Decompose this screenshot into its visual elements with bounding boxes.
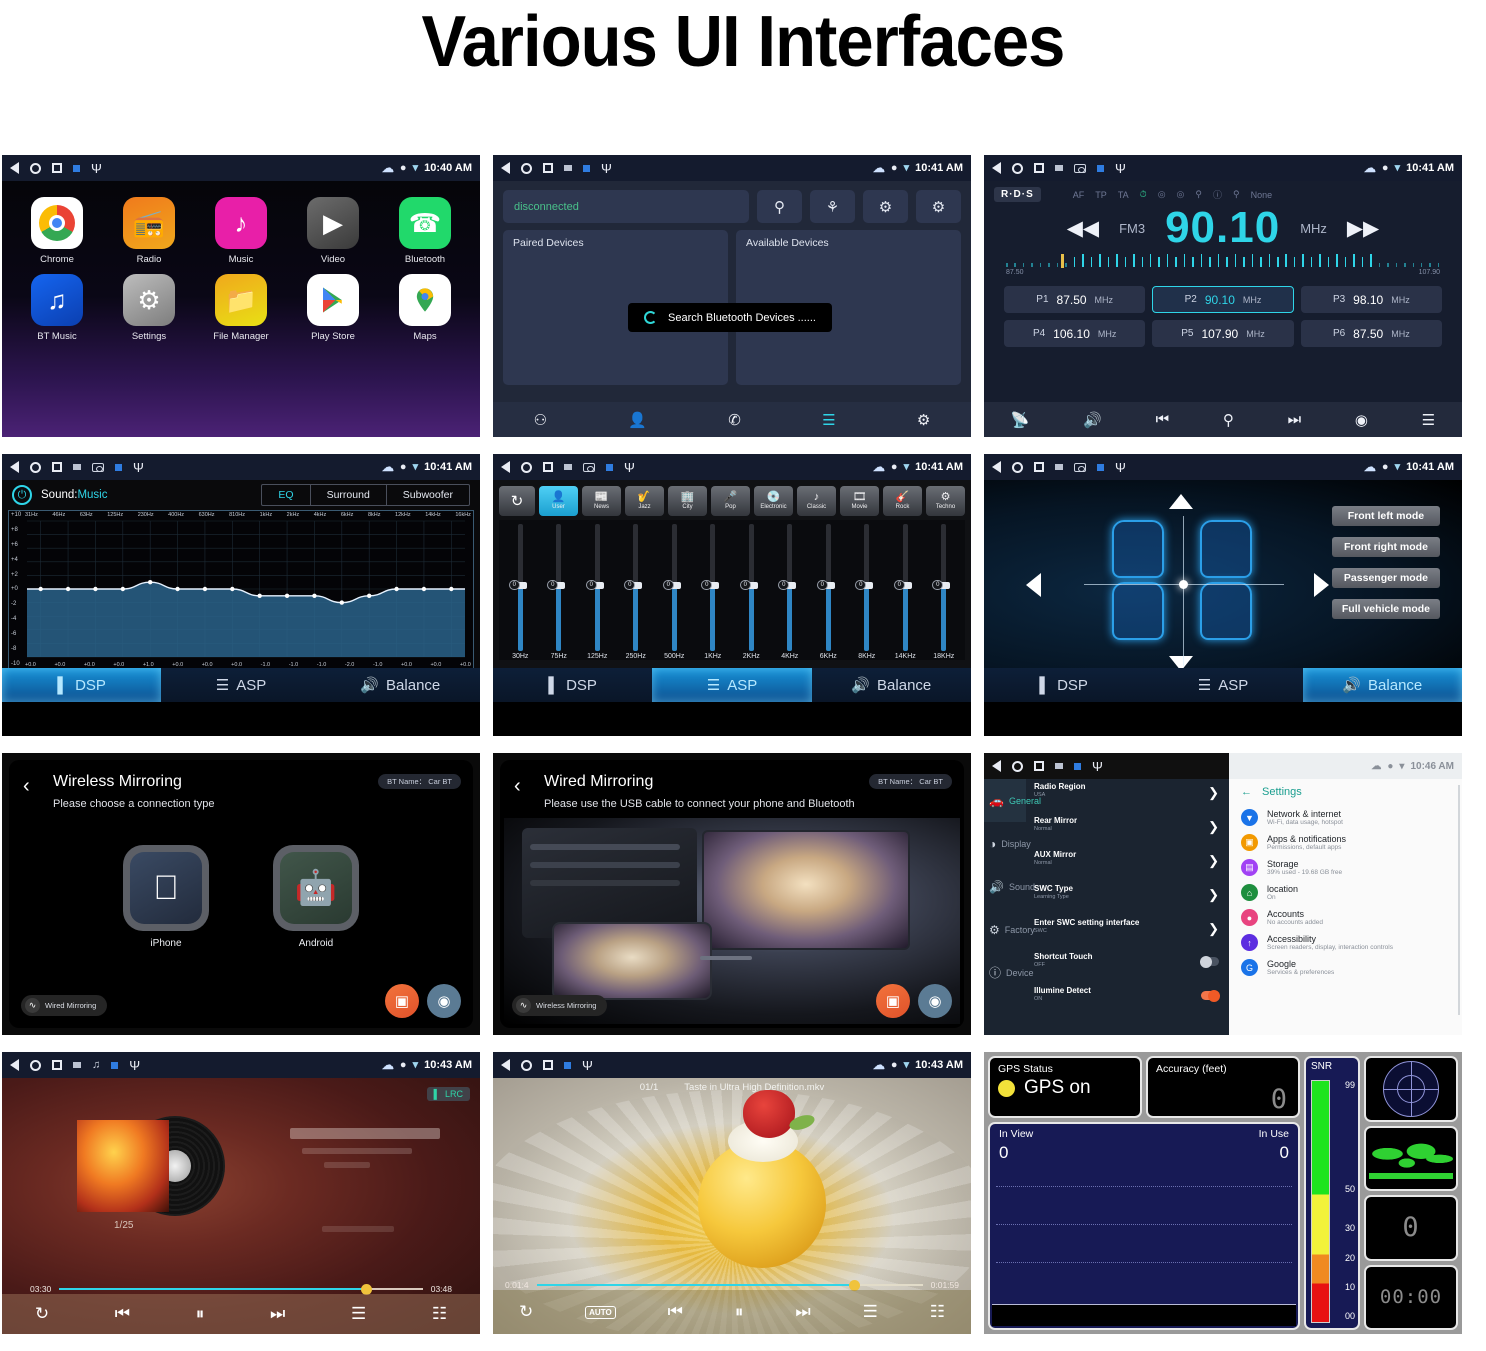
preset-jazz[interactable]: 🎷Jazz xyxy=(625,486,664,516)
eq-curve-chart[interactable]: +10+8+6+4+2+0-2-4-6-8-10 31Hz46Hz63Hz125… xyxy=(8,510,474,670)
unpair-icon[interactable]: ⚙ xyxy=(863,190,908,223)
previous-icon[interactable]: ⏮ xyxy=(668,1302,683,1322)
preset-rock[interactable]: 🎸Rock xyxy=(883,486,922,516)
nav-balance[interactable]: 🔊Balance xyxy=(812,668,971,702)
cast-icon[interactable]: ▣ xyxy=(385,984,419,1018)
search-icon[interactable]: ⚲ xyxy=(1195,189,1202,200)
antenna-icon[interactable]: 📡 xyxy=(1011,411,1030,429)
playlist-icon[interactable]: ☰ xyxy=(863,1302,878,1322)
status-bar-left: Ψ xyxy=(992,461,1126,474)
slider-value: 0 xyxy=(624,580,635,590)
home-icon[interactable] xyxy=(521,163,532,174)
back-icon[interactable] xyxy=(10,162,19,174)
radio-body: R·D·S AF TP TA ⏱ ◎ ◎ ⚲ ⓘ ⚲ None xyxy=(984,181,1462,437)
settings-item-title: Apps & notifications xyxy=(1267,834,1346,844)
scrollbar[interactable] xyxy=(1458,785,1460,1015)
home-icon[interactable] xyxy=(30,462,41,473)
slider-track[interactable]: 0 xyxy=(710,524,715,651)
back-icon[interactable] xyxy=(992,162,1001,174)
eq-slider[interactable]: 0 8KHz xyxy=(853,524,881,660)
preset-news[interactable]: 📰News xyxy=(582,486,621,516)
seek-bar[interactable] xyxy=(59,1288,422,1291)
seat-rear-left[interactable] xyxy=(1112,582,1164,640)
android-settings-item[interactable]: ▼ Network & internet Wi-Fi, data usage, … xyxy=(1229,805,1462,830)
home-icon[interactable] xyxy=(521,462,532,473)
eq-slider[interactable]: 0 4KHz xyxy=(776,524,804,660)
divider xyxy=(996,1224,1292,1225)
sidebar-item-sound[interactable]: 🔊Sound xyxy=(984,865,1026,908)
recents-icon[interactable] xyxy=(52,163,62,173)
panel-balance[interactable]: Ψ ☁ ● ▾ 10:41 AM xyxy=(984,454,1462,736)
preset-movie[interactable]: 🎞Movie xyxy=(840,486,879,516)
flag-tp[interactable]: TP xyxy=(1095,190,1107,200)
scale-tick xyxy=(1040,263,1042,267)
info-icon[interactable]: ⓘ xyxy=(1213,188,1222,201)
app-play-store[interactable]: Play Store xyxy=(296,274,370,342)
preset-label: User xyxy=(552,504,565,510)
pty-label[interactable]: None xyxy=(1251,190,1273,200)
scale-tick xyxy=(1167,254,1169,267)
seat-front-left[interactable] xyxy=(1112,520,1164,578)
app-video[interactable]: ▶ Video xyxy=(296,197,370,265)
preset-label: Classic xyxy=(807,504,826,510)
seat-diagram[interactable] xyxy=(1104,506,1264,646)
home-icon[interactable] xyxy=(1012,163,1023,174)
seat-front-right[interactable] xyxy=(1200,520,1252,578)
mode-front-right[interactable]: Front right mode xyxy=(1332,537,1440,557)
settings-row[interactable]: Shortcut Touch OFF xyxy=(1026,949,1229,983)
eq-slider[interactable]: 0 30Hz xyxy=(506,524,534,660)
app-music[interactable]: ♪ Music xyxy=(204,197,278,265)
cast-icon[interactable]: ▣ xyxy=(876,984,910,1018)
recents-icon[interactable] xyxy=(1034,462,1044,472)
chevron-right-icon[interactable]: ❯ xyxy=(1208,854,1219,867)
settings-row[interactable]: Rear Mirror Normal ❯ xyxy=(1026,813,1229,847)
settings-row[interactable]: SWC Type Learning Type ❯ xyxy=(1026,881,1229,915)
home-icon[interactable] xyxy=(521,1060,532,1071)
gps-status-value: GPS on xyxy=(1024,1077,1091,1099)
pause-icon[interactable]: ⏸ xyxy=(196,1304,205,1324)
slider-track[interactable]: 0 xyxy=(864,524,869,651)
clock-label: 10:41 AM xyxy=(915,461,963,473)
usb-icon: Ψ xyxy=(1115,162,1126,175)
contacts-icon[interactable]: 👤 xyxy=(628,411,647,429)
home-icon[interactable] xyxy=(1012,462,1023,473)
recents-icon[interactable] xyxy=(1034,163,1044,173)
recents-icon[interactable] xyxy=(543,462,553,472)
back-icon[interactable] xyxy=(992,461,1001,473)
chevron-right-icon[interactable]: ❯ xyxy=(1208,922,1219,935)
wifi-icon: ▾ xyxy=(1399,761,1404,772)
slider-frequency-label: 500Hz xyxy=(664,653,684,660)
panel-dsp-eq[interactable]: Ψ ☁ ● ▾ 10:41 AM ⏻ Sound:Music EQ Surrou… xyxy=(2,454,480,736)
android-settings-item[interactable]: ↑ Accessibility Screen readers, display,… xyxy=(1229,930,1462,955)
nav-asp[interactable]: ☰ASP xyxy=(652,668,811,702)
preset-label: News xyxy=(594,504,609,510)
choice-label: Android xyxy=(272,938,360,949)
next-icon[interactable]: ⏭ xyxy=(1288,411,1302,428)
settings-item-text: Accounts No accounts added xyxy=(1267,909,1323,926)
radio-nav: 📡 🔊 ⏮ ⚲ ⏭ ◉ ☰ xyxy=(984,402,1462,437)
location-icon: ● xyxy=(891,163,898,174)
settings-hex-icon[interactable]: ◉ xyxy=(918,984,952,1018)
nav-dsp[interactable]: ▌DSP xyxy=(493,668,652,702)
home-icon[interactable] xyxy=(30,163,41,174)
panel-radio[interactable]: Ψ ☁ ● ▾ 10:41 AM R·D·S AF TP TA ⏱ xyxy=(984,155,1462,437)
image-icon xyxy=(73,464,81,470)
app-settings[interactable]: ⚙ Settings xyxy=(112,274,186,342)
settings-row[interactable]: Radio Region USA ❯ xyxy=(1026,779,1229,813)
repeat-icon[interactable]: ↻ xyxy=(519,1302,533,1322)
slider-track[interactable]: 0 xyxy=(633,524,638,651)
settings-hex-icon[interactable]: ◉ xyxy=(427,984,461,1018)
nav-balance[interactable]: 🔊Balance xyxy=(321,668,480,702)
lrc-toggle[interactable]: ▌ LRC xyxy=(427,1087,470,1101)
eq-slider[interactable]: 0 6KHz xyxy=(814,524,842,660)
eq-slider[interactable]: 0 14KHz xyxy=(891,524,919,660)
preset-techno[interactable]: ⚙Techno xyxy=(926,486,965,516)
settings-item-icon: ▣ xyxy=(1241,834,1258,851)
gear-icon[interactable]: ⚙ xyxy=(917,411,930,429)
slider-frequency-label: 6KHz xyxy=(820,653,837,660)
nav-label: Balance xyxy=(1368,677,1422,694)
preset-unit: MHz xyxy=(1391,295,1410,305)
switch-to-wireless-button[interactable]: ∿ Wireless Mirroring xyxy=(512,995,607,1016)
auto-button[interactable]: AUTO xyxy=(585,1306,616,1319)
scale-tick xyxy=(1277,257,1279,267)
settings-row[interactable]: AUX Mirror Normal ❯ xyxy=(1026,847,1229,881)
balance-right-arrow[interactable] xyxy=(1314,573,1329,597)
phone-frame:  xyxy=(123,845,209,931)
preset-button[interactable]: P187.50MHz xyxy=(1004,286,1145,313)
phone-screen xyxy=(552,922,712,1000)
rds-flags: AF TP TA ⏱ ◎ ◎ ⚲ ⓘ ⚲ None xyxy=(1073,188,1272,201)
sky-view-widget[interactable] xyxy=(1364,1056,1458,1122)
bt-name-badge: BT Name： Car BT xyxy=(869,774,952,789)
status-bar-right: ☁ ● ▾ 10:41 AM xyxy=(873,461,963,473)
slider-value: 0 xyxy=(817,580,828,590)
sidebar-item-general[interactable]: 🚗General xyxy=(984,779,1026,822)
recents-icon[interactable] xyxy=(543,163,553,173)
balance-left-arrow[interactable] xyxy=(1026,573,1041,597)
nav-dsp[interactable]: ▌DSP xyxy=(984,668,1143,702)
scale-tick xyxy=(1252,254,1254,267)
settings-item-text: Network & internet Wi-Fi, data usage, ho… xyxy=(1267,809,1343,826)
tab-surround[interactable]: Surround xyxy=(311,485,387,505)
sidebar-item-factory[interactable]: ⚙Factory xyxy=(984,908,1026,951)
nav-dsp[interactable]: ▌DSP xyxy=(2,668,161,702)
bluetooth-icon: ☁ xyxy=(873,461,885,473)
slider-track[interactable]: 0 xyxy=(787,524,792,651)
techno-icon: ⚙ xyxy=(941,492,951,503)
panel-wired-mirroring[interactable]: ‹ Wired Mirroring Please use the USB cab… xyxy=(493,753,971,1035)
chevron-right-icon[interactable]: ❯ xyxy=(1208,786,1219,799)
preset-button[interactable]: P687.50MHz xyxy=(1301,320,1442,347)
clock-value: 00:00 xyxy=(1380,1288,1442,1307)
bt-devices-icon[interactable]: ☰ xyxy=(822,411,835,429)
mode-front-left[interactable]: Front left mode xyxy=(1332,506,1440,526)
android-settings-item[interactable]: ⌂ location On xyxy=(1229,880,1462,905)
app-bt-music[interactable]: ♫ BT Music xyxy=(20,274,94,342)
switch-to-wired-button[interactable]: ∿ Wired Mirroring xyxy=(21,995,107,1016)
radio-tuner: ◀◀ FM3 90.10 MHz ▶▶ xyxy=(994,206,1452,250)
volume-icon[interactable]: 🔊 xyxy=(1083,411,1102,429)
search-icon[interactable]: ⚲ xyxy=(757,190,802,223)
world-map-widget[interactable] xyxy=(1364,1126,1458,1192)
preset-electronic[interactable]: 💿Electronic xyxy=(754,486,793,516)
in-view-label: In View xyxy=(999,1128,1033,1140)
broadcast-icon[interactable]: ◉ xyxy=(1355,411,1368,429)
slider-track[interactable]: 0 xyxy=(556,524,561,651)
bluetooth-icon: ☁ xyxy=(1364,461,1376,473)
rds-badge[interactable]: R·D·S xyxy=(994,187,1041,202)
music-note-icon: ♪ xyxy=(215,197,267,249)
delete-icon[interactable]: ⚙ xyxy=(916,190,961,223)
eq-slider[interactable]: 0 18KHz xyxy=(930,524,958,660)
recents-icon[interactable] xyxy=(52,462,62,472)
tab-subwoofer[interactable]: Subwoofer xyxy=(387,485,469,505)
slider-track[interactable]: 0 xyxy=(941,524,946,651)
eq-slider[interactable]: 0 1KHz xyxy=(699,524,727,660)
mirroring-actions: ▣ ◉ xyxy=(876,984,952,1018)
slider-track[interactable]: 0 xyxy=(672,524,677,651)
panel-wireless-mirroring[interactable]: ‹ Wireless Mirroring Please choose a con… xyxy=(2,753,480,1035)
scale-tick xyxy=(1184,254,1186,267)
tune-down-icon[interactable]: ◀◀ xyxy=(1067,216,1099,241)
android-settings-item[interactable]: G Google Services & preferences xyxy=(1229,955,1462,980)
location-icon: ● xyxy=(891,1060,898,1071)
scale-tick xyxy=(1150,254,1152,267)
next-icon[interactable]: ⏭ xyxy=(795,1302,810,1322)
gps-main-column: GPS Status GPS on Accuracy (feet) 0 In V… xyxy=(988,1056,1300,1330)
app-chrome[interactable]: Chrome xyxy=(20,197,94,265)
preset-button[interactable]: P4106.10MHz xyxy=(1004,320,1145,347)
next-icon[interactable]: ⏭ xyxy=(270,1304,285,1324)
gears-icon: ⚙ xyxy=(989,923,1000,937)
slider-fill xyxy=(787,588,792,652)
panel-settings[interactable]: Ψ 🚗General ◑Display 🔊Sound ⚙Factory ⓘDev… xyxy=(984,753,1462,1035)
settings-row-text: Illumine Detect ON xyxy=(1034,986,1091,1002)
preset-button[interactable]: P5107.90MHz xyxy=(1152,320,1293,347)
balance-position-dot[interactable] xyxy=(1179,580,1188,589)
panel-asp-equalizer[interactable]: Ψ ☁ ● ▾ 10:41 AM ↻ 👤User 📰News 🎷Jazz 🏢Ci… xyxy=(493,454,971,736)
android-settings-item[interactable]: ▤ Storage 39% used - 19.68 GB free xyxy=(1229,855,1462,880)
slider-track[interactable]: 0 xyxy=(903,524,908,651)
divider xyxy=(996,1262,1292,1263)
piano-icon: ♪ xyxy=(814,492,820,503)
recents-icon[interactable] xyxy=(543,1060,553,1070)
reset-icon[interactable]: ↻ xyxy=(499,486,535,516)
app-maps[interactable]: Maps xyxy=(388,274,462,342)
android-settings-item[interactable]: ▣ Apps & notifications Permissions, defa… xyxy=(1229,830,1462,855)
app-bluetooth[interactable]: ☎ Bluetooth xyxy=(388,197,462,265)
settings-item-subtitle: No accounts added xyxy=(1267,919,1323,926)
signal-icon[interactable]: ◎ xyxy=(1158,189,1166,200)
settings-item-text: Storage 39% used - 19.68 GB free xyxy=(1267,859,1342,876)
recents-icon[interactable] xyxy=(1034,761,1044,771)
settings-row-subtitle: SWC xyxy=(1034,928,1139,934)
flag-af[interactable]: AF xyxy=(1073,190,1085,200)
settings-item-subtitle: On xyxy=(1267,894,1298,901)
home-icon[interactable] xyxy=(1012,761,1023,772)
choice-iphone[interactable]:  iPhone xyxy=(122,845,210,949)
slider-track[interactable]: 0 xyxy=(826,524,831,651)
scale-tick xyxy=(1311,257,1313,267)
preset-button[interactable]: P398.10MHz xyxy=(1301,286,1442,313)
scale-tick xyxy=(1006,263,1008,267)
tab-eq[interactable]: EQ xyxy=(262,485,310,505)
settings-item-text: location On xyxy=(1267,884,1298,901)
status-bar-left: Ψ xyxy=(501,461,635,474)
wifi-icon: ▾ xyxy=(904,163,910,174)
eq-slider[interactable]: 0 500Hz xyxy=(660,524,688,660)
mode-full-vehicle[interactable]: Full vehicle mode xyxy=(1332,599,1440,619)
slider-fill xyxy=(941,588,946,652)
call-log-icon[interactable]: ✆ xyxy=(728,411,741,429)
eq-slider[interactable]: 0 250Hz xyxy=(622,524,650,660)
elapsed-time: 03:30 xyxy=(30,1284,51,1294)
back-icon[interactable] xyxy=(10,1059,19,1071)
app-radio[interactable]: 📻 Radio xyxy=(112,197,186,265)
clock-sync-icon[interactable]: ⏱ xyxy=(1140,189,1147,200)
frequency-scale[interactable]: 87.50 107.90 xyxy=(1006,254,1440,280)
news-icon: 📰 xyxy=(595,492,609,503)
nav-asp[interactable]: ☰ASP xyxy=(161,668,320,702)
flag-ta[interactable]: TA xyxy=(1118,190,1129,200)
usb-icon: Ψ xyxy=(1092,760,1103,773)
seek-bar[interactable] xyxy=(537,1284,923,1287)
chevron-right-icon[interactable]: ❯ xyxy=(1208,888,1219,901)
preset-user[interactable]: 👤User xyxy=(539,486,578,516)
panel-home-screen[interactable]: Ψ ☁ ● ▾ 10:40 AM Chrome 📻 R xyxy=(2,155,480,437)
eq-slider[interactable]: 0 75Hz xyxy=(545,524,573,660)
equalizer-icon[interactable]: ☷ xyxy=(432,1304,447,1324)
eq-slider[interactable]: 0 125Hz xyxy=(583,524,611,660)
stereo-icon[interactable]: ◎ xyxy=(1177,189,1185,200)
panel-gps-status[interactable]: GPS Status GPS on Accuracy (feet) 0 In V… xyxy=(984,1052,1462,1334)
pause-icon[interactable]: ⏸ xyxy=(735,1302,744,1322)
connection-status: disconnected xyxy=(503,190,749,223)
back-icon[interactable] xyxy=(501,1059,510,1071)
back-chevron-icon[interactable]: ‹ xyxy=(514,776,521,796)
sound-source-label: Sound:Music xyxy=(41,489,107,501)
android-settings-item[interactable]: ● Accounts No accounts added xyxy=(1229,905,1462,930)
power-icon[interactable]: ⏻ xyxy=(12,485,32,505)
previous-icon[interactable]: ⏮ xyxy=(115,1304,130,1324)
previous-icon[interactable]: ⏮ xyxy=(1156,411,1170,428)
screenshot-icon xyxy=(564,1062,571,1069)
pair-icon[interactable]: ⚘ xyxy=(810,190,855,223)
nav-label: ASP xyxy=(727,677,757,694)
image-icon xyxy=(1055,464,1063,470)
sidebar-item-device[interactable]: ⓘDevice xyxy=(984,951,1026,994)
preset-button[interactable]: P290.10MHz xyxy=(1152,286,1293,313)
location-icon: ● xyxy=(400,462,407,473)
settings-row[interactable]: Enter SWC setting interface SWC ❯ xyxy=(1026,915,1229,949)
slider-track[interactable]: 0 xyxy=(595,524,600,651)
settings-row-subtitle: Normal xyxy=(1034,860,1076,866)
panel-video-player[interactable]: Ψ ☁ ● ▾ 10:43 AM 01/1 Taste in Ultra Hig… xyxy=(493,1052,971,1334)
scale-labels: 87.50 107.90 xyxy=(1006,269,1440,276)
slider-track[interactable]: 0 xyxy=(749,524,754,651)
asp-preset-bar: ↻ 👤User 📰News 🎷Jazz 🏢City 🎤Pop 💿Electron… xyxy=(493,480,971,516)
preset-city[interactable]: 🏢City xyxy=(668,486,707,516)
eq-slider[interactable]: 0 2KHz xyxy=(737,524,765,660)
android-settings-list: ▼ Network & internet Wi-Fi, data usage, … xyxy=(1229,805,1462,980)
chevron-right-icon[interactable]: ❯ xyxy=(1208,820,1219,833)
slider-value: 0 xyxy=(547,580,558,590)
nav-asp[interactable]: ☰ASP xyxy=(1143,668,1302,702)
scale-tick xyxy=(1192,257,1194,267)
preset-freq: 107.90 xyxy=(1202,327,1239,341)
slider-value: 0 xyxy=(701,580,712,590)
pill-label: Wireless Mirroring xyxy=(536,1001,596,1010)
head-unit-screen xyxy=(702,830,910,950)
repeat-icon[interactable]: ↻ xyxy=(35,1304,49,1324)
home-icon[interactable] xyxy=(30,1060,41,1071)
zoom-icon[interactable]: ⚲ xyxy=(1233,189,1240,200)
sidebar-item-display[interactable]: ◑Display xyxy=(984,822,1026,865)
back-arrow-icon[interactable]: ← xyxy=(1241,786,1252,798)
scale-tick xyxy=(1260,257,1262,267)
android-settings-pane: ☁ ● ▾ 10:46 AM ← Settings ▼ Network & in… xyxy=(1229,753,1462,1035)
video-body[interactable]: 01/1 Taste in Ultra High Definition.mkv … xyxy=(493,1078,971,1334)
recents-icon[interactable] xyxy=(52,1060,62,1070)
back-icon[interactable] xyxy=(10,461,19,473)
back-icon[interactable] xyxy=(501,162,510,174)
settings-row[interactable]: Illumine Detect ON xyxy=(1026,983,1229,1017)
back-icon[interactable] xyxy=(501,461,510,473)
preset-name: P4 xyxy=(1033,328,1045,339)
usb-cable xyxy=(700,956,752,960)
tune-up-icon[interactable]: ▶▶ xyxy=(1347,216,1379,241)
bluetooth-icon: ☁ xyxy=(1364,162,1376,174)
settings-row-text: SWC Type Learning Type xyxy=(1034,884,1073,900)
mode-passenger[interactable]: Passenger mode xyxy=(1332,568,1440,588)
panel-bluetooth[interactable]: Ψ ☁ ● ▾ 10:41 AM disconnected ⚲ ⚘ ⚙ ⚙ xyxy=(493,155,971,437)
bluetooth-icon: ☁ xyxy=(1371,761,1381,772)
scale-tick xyxy=(1438,263,1440,267)
app-file-manager[interactable]: 📁 File Manager xyxy=(204,274,278,342)
back-icon[interactable] xyxy=(992,760,1001,772)
playlist-icon[interactable]: ☰ xyxy=(351,1304,366,1324)
location-icon: ● xyxy=(891,462,898,473)
slider-track[interactable]: 0 xyxy=(518,524,523,651)
equalizer-icon[interactable]: ☰ xyxy=(1422,411,1435,429)
preset-pop[interactable]: 🎤Pop xyxy=(711,486,750,516)
guitar-icon: 🎸 xyxy=(896,492,910,503)
toggle-switch[interactable] xyxy=(1201,957,1219,966)
settings-row-text: Shortcut Touch OFF xyxy=(1034,952,1093,968)
seat-rear-right[interactable] xyxy=(1200,582,1252,640)
equalizer-icon[interactable]: ☷ xyxy=(930,1302,945,1322)
toggle-switch[interactable] xyxy=(1201,991,1219,1000)
dialpad-icon[interactable]: ⚇ xyxy=(534,411,547,429)
band-label[interactable]: FM3 xyxy=(1119,221,1145,236)
nav-balance[interactable]: 🔊Balance xyxy=(1303,668,1462,702)
back-chevron-icon[interactable]: ‹ xyxy=(23,776,30,796)
bluetooth-music-icon: ♫ xyxy=(31,274,83,326)
scan-icon[interactable]: ⚲ xyxy=(1223,411,1234,429)
panel-music-player[interactable]: ♫ Ψ ☁ ● ▾ 10:43 AM ▌ LRC xyxy=(2,1052,480,1334)
choice-android[interactable]: 🤖 Android xyxy=(272,845,360,949)
scale-tick xyxy=(1201,254,1203,267)
preset-classic[interactable]: ♪Classic xyxy=(797,486,836,516)
app-label: Play Store xyxy=(296,331,370,342)
mirroring-actions: ▣ ◉ xyxy=(385,984,461,1018)
world-map-icon xyxy=(1369,1137,1453,1179)
asp-body: ↻ 👤User 📰News 🎷Jazz 🏢City 🎤Pop 💿Electron… xyxy=(493,480,971,702)
